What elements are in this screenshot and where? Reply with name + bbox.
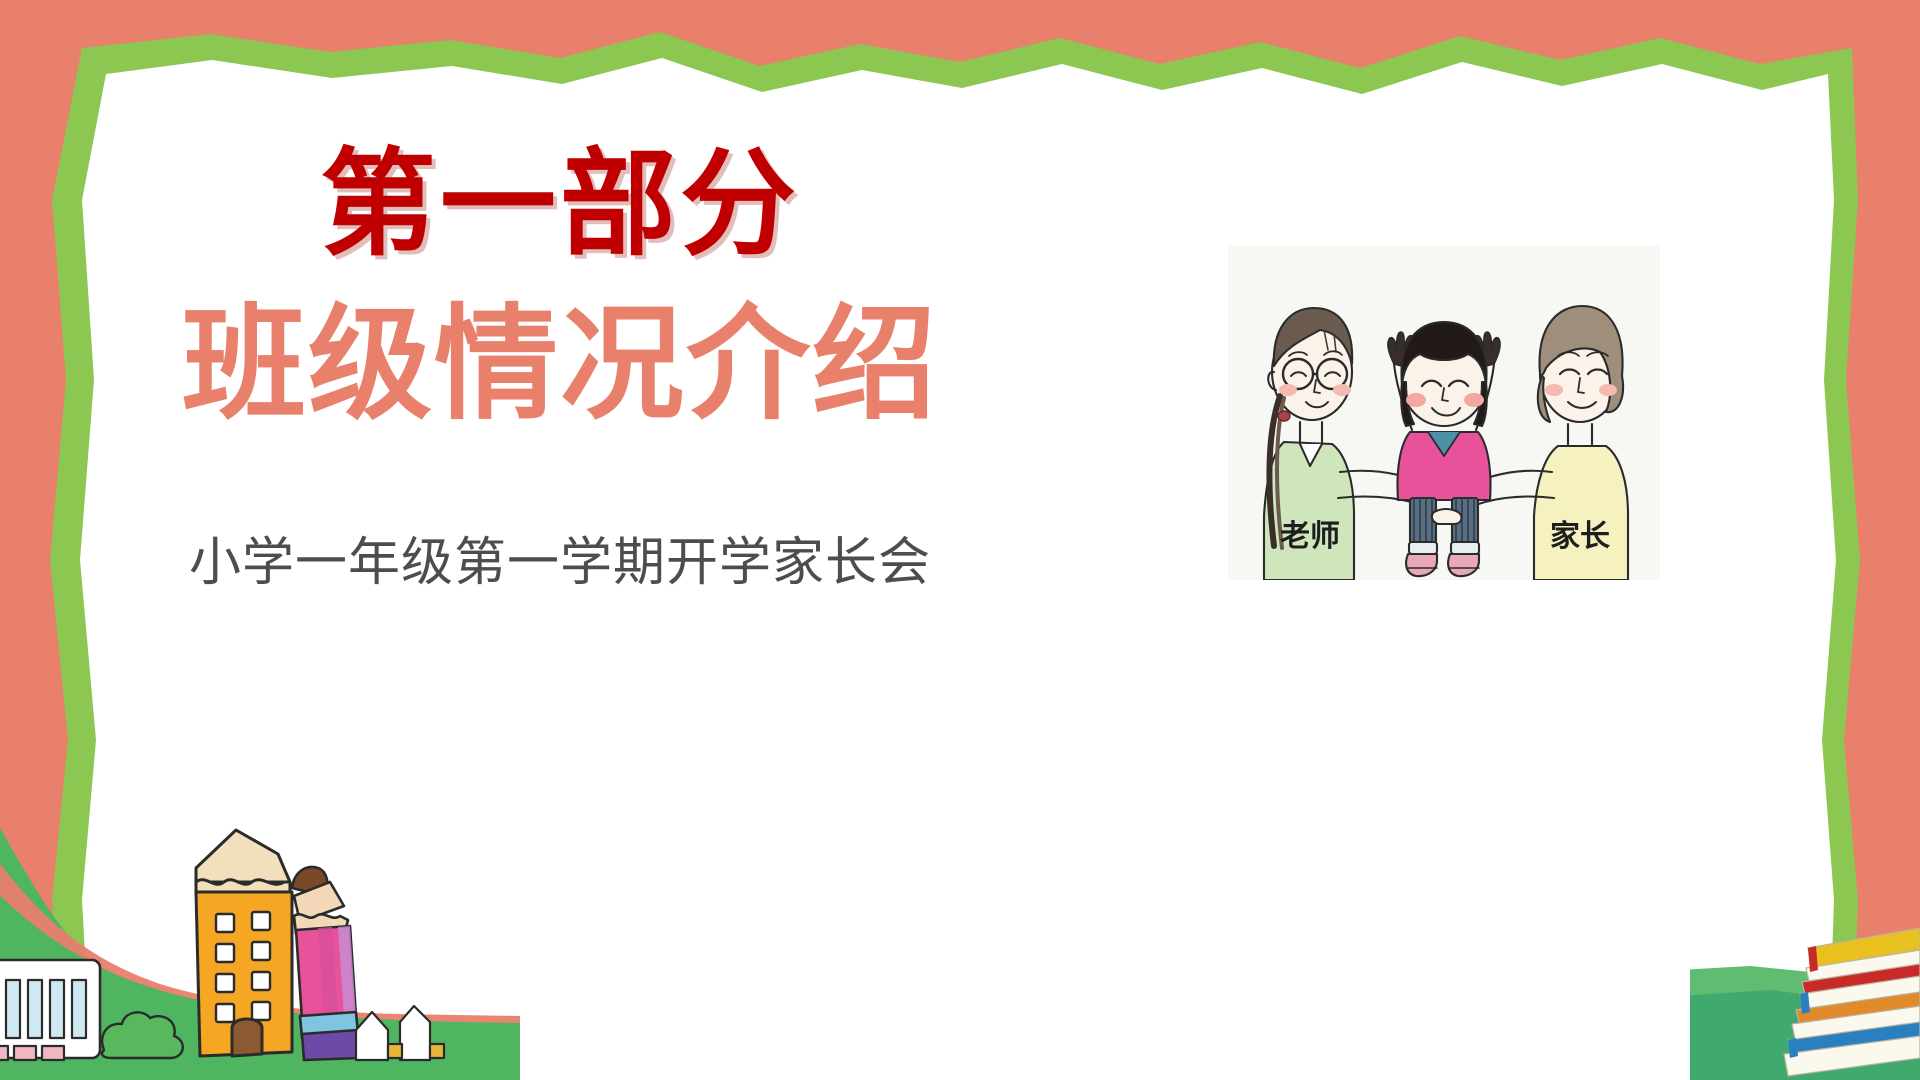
title-block: 第一部分 班级情况介绍 小学一年级第一学期开学家长会 — [130, 140, 990, 598]
illustration-panel: 老师 — [1228, 246, 1660, 580]
building-white-striped — [0, 960, 100, 1060]
illustration-label-parent: 家长 — [1550, 519, 1610, 554]
illustration-teacher-child-parent: 老师 — [1228, 246, 1660, 580]
page-title-main: 第一部分 — [130, 140, 990, 270]
decoration-bottom-left — [0, 820, 520, 1080]
page-title-sub: 班级情况介绍 — [130, 292, 990, 438]
building-pencil-orange — [196, 830, 292, 1056]
presentation-slide: 第一部分 班级情况介绍 小学一年级第一学期开学家长会 — [0, 0, 1920, 1080]
decoration-bottom-right — [1690, 850, 1920, 1080]
illustration-label-teacher: 老师 — [1280, 519, 1340, 554]
pencil-pink — [292, 867, 360, 1060]
page-subtitle-caption: 小学一年级第一学期开学家长会 — [130, 530, 990, 598]
